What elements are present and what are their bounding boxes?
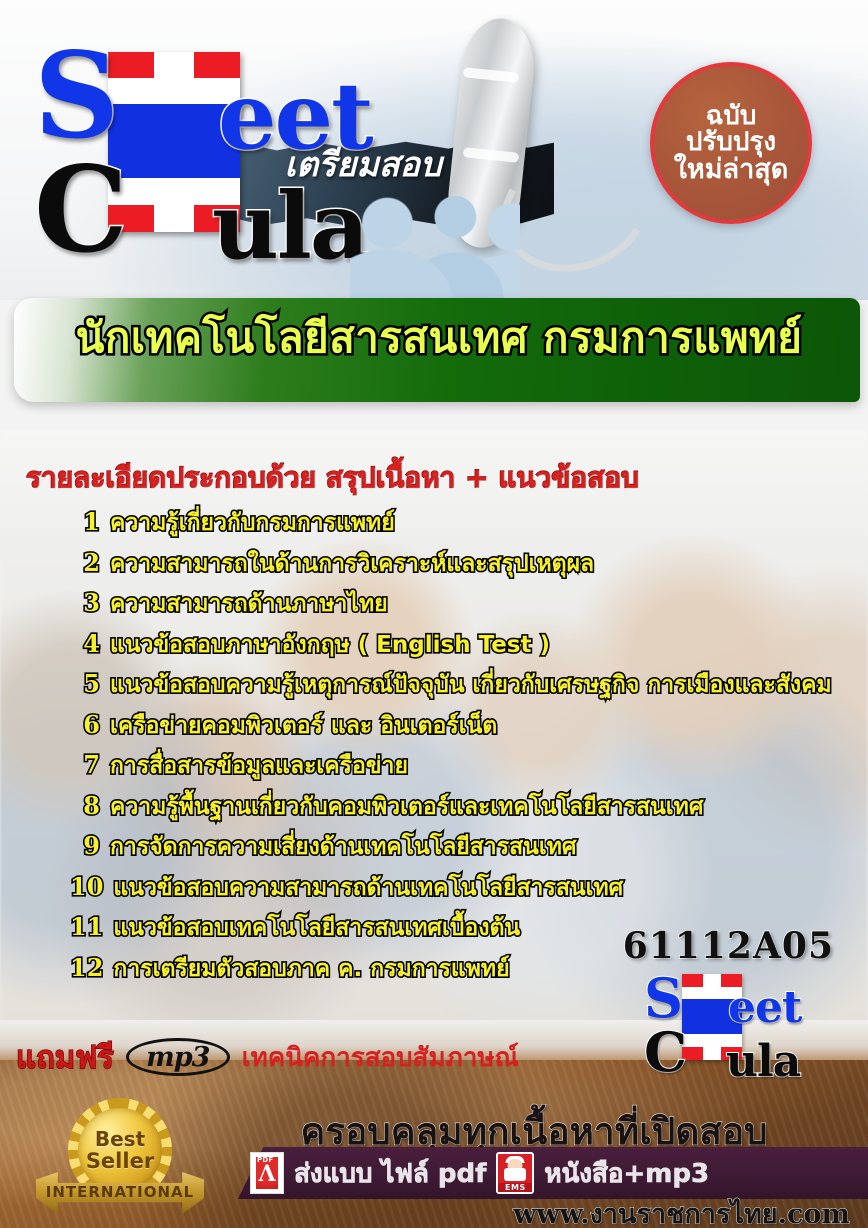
list-item-label: ความรู้พื้นฐานเกี่ยวกับคอมพิวเตอร์และเทค… (110, 789, 703, 825)
list-item-label: การเตรียมตัวสอบภาค ค. กรมการแพทย์ (113, 951, 509, 987)
list-item: 4 แนวข้อสอบภาษาอังกฤษ ( English Test ) (70, 627, 840, 656)
badge-line-2: ปรับปรุง (686, 129, 776, 156)
list-item-number: 5 (70, 669, 100, 698)
list-item: 10 แนวข้อสอบความสามารถด้านเทคโนโลยีสารสน… (70, 870, 840, 899)
product-code: 61112A05 (623, 925, 834, 967)
list-item: 8 ความรู้พื้นฐานเกี่ยวกับคอมพิวเตอร์และเ… (70, 789, 840, 818)
brand-logo-small: S eet C ula (640, 966, 850, 1078)
list-item-number: 9 (70, 831, 100, 860)
logo-small-text-eet: eet (728, 982, 801, 1033)
medal-line-1: Best (95, 1129, 145, 1149)
website-url[interactable]: www.งานราชการไทย.com (380, 1192, 850, 1228)
logo-small-letter-c: C (644, 1020, 686, 1084)
list-item-label: แนวข้อสอบเทคโนโลยีสารสนเทศเบื้องต้น (113, 910, 520, 946)
badge-line-1: ฉบับ (706, 103, 757, 130)
list-item-number: 8 (70, 791, 100, 820)
list-item: 3 ความสามารถด้านภาษาไทย (70, 586, 840, 615)
edition-badge: ฉบับ ปรับปรุง ใหม่ล่าสุด (650, 62, 812, 224)
page-title: นักเทคโนโลยีสารสนเทศ กรมการแพทย์ (24, 312, 854, 365)
ems-icon: EMS (496, 1152, 534, 1194)
list-item-label: แนวข้อสอบความรู้เหตุการณ์ปัจจุบัน เกี่ยว… (110, 667, 832, 703)
list-item: 5 แนวข้อสอบความรู้เหตุการณ์ปัจจุบัน เกี่… (70, 667, 840, 696)
pdf-icon-glyph: Λ (258, 1161, 275, 1187)
medal-ribbon-label: INTERNATIONAL (36, 1183, 204, 1201)
delivery-book-text: หนังสือ+mp3 (544, 1153, 709, 1194)
ems-icon-parcel (504, 1168, 526, 1181)
list-item-number: 12 (70, 953, 103, 982)
list-item-number: 1 (70, 507, 100, 536)
list-item-label: แนวข้อสอบภาษาอังกฤษ ( English Test ) (110, 627, 550, 663)
people-silhouette-graphic (350, 196, 520, 300)
list-item: 7 การสื่อสารข้อมูลและเครือข่าย (70, 748, 840, 777)
list-item-number: 10 (70, 872, 103, 901)
contents-list: 1 ความรู้เกี่ยวกับกรมการแพทย์ 2 ความสามา… (70, 505, 840, 991)
best-seller-medal: Best Seller INTERNATIONAL (36, 1098, 204, 1224)
list-item-label: การจัดการความเสี่ยงด้านเทคโนโลยีสารสนเทศ (110, 829, 576, 865)
delivery-pdf-text: ส่งแบบ ไฟล์ pdf (294, 1153, 486, 1194)
list-item-number: 7 (70, 750, 100, 779)
list-item-label: แนวข้อสอบความสามารถด้านเทคโนโลยีสารสนเทศ (113, 870, 623, 906)
list-item: 1 ความรู้เกี่ยวกับกรมการแพทย์ (70, 505, 840, 534)
logo-letter-c: C (34, 140, 126, 279)
freebie-label: แถมฟรี (16, 1032, 114, 1082)
list-item-label: เครือข่ายคอมพิวเตอร์ และ อินเตอร์เน็ต (110, 708, 497, 744)
list-item: 9 การจัดการความเสี่ยงด้านเทคโนโลยีสารสนเ… (70, 829, 840, 858)
list-item-label: ความสามารถด้านภาษาไทย (110, 586, 388, 622)
list-item-number: 3 (70, 588, 100, 617)
list-item: 6 เครือข่ายคอมพิวเตอร์ และ อินเตอร์เน็ต (70, 708, 840, 737)
list-item-label: ความสามารถในด้านการวิเคราะห์และสรุปเหตุผ… (110, 546, 594, 582)
list-item: 2 ความสามารถในด้านการวิเคราะห์และสรุปเหต… (70, 546, 840, 575)
list-item-number: 11 (70, 912, 103, 941)
freebie-row: แถมฟรี mp3 เทคนิคการสอบสัมภาษณ์ (16, 1036, 576, 1078)
list-item-number: 6 (70, 710, 100, 739)
medal-face: Best Seller (78, 1108, 162, 1192)
subtitle: รายละเอียดประกอบด้วย สรุปเนื้อหา + แนวข้… (26, 456, 686, 500)
mp3-icon: mp3 (126, 1038, 230, 1076)
freebie-description: เทคนิคการสอบสัมภาษณ์ (242, 1037, 519, 1078)
badge-line-3: ใหม่ล่าสุด (674, 156, 789, 184)
list-item-number: 4 (70, 629, 100, 658)
medal-line-2: Seller (86, 1151, 154, 1172)
logo-small-text-ula: ula (726, 1036, 800, 1087)
pdf-icon: PDF Λ (250, 1152, 284, 1194)
list-item-label: ความรู้เกี่ยวกับกรมการแพทย์ (110, 505, 395, 541)
list-item-label: การสื่อสารข้อมูลและเครือข่าย (110, 748, 408, 784)
list-item-number: 2 (70, 548, 100, 577)
ems-icon-label: EMS (498, 1183, 532, 1192)
poster-canvas: S eet C ula เตรียมสอบ ฉบับ ปรับปรุง ใหม่… (0, 0, 868, 1228)
